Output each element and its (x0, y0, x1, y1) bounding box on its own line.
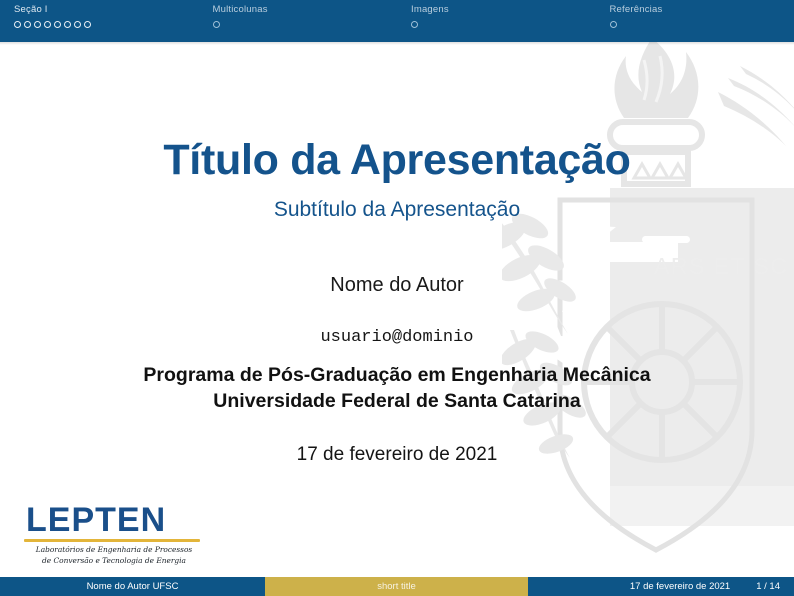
nav-dot[interactable] (213, 21, 220, 28)
nav-dot[interactable] (54, 21, 61, 28)
institute-university-line: Universidade Federal de Santa Catarina (0, 388, 794, 414)
nav-section-referencias[interactable]: Referências (596, 0, 794, 42)
footer-author-section: Nome do Autor UFSC (0, 577, 265, 596)
nav-section-label: Referências (610, 4, 794, 16)
footer-date-page-section: 17 de fevereiro de 2021 1 / 14 (528, 577, 794, 596)
nav-section-multicolunas[interactable]: Multicolunas (199, 0, 398, 42)
nav-slide-dots[interactable] (213, 21, 398, 28)
nav-section-imagens[interactable]: Imagens (397, 0, 596, 42)
presentation-title: Título da Apresentação (0, 135, 794, 185)
nav-dot[interactable] (24, 21, 31, 28)
lepten-rule (24, 539, 200, 542)
footer-page-number: 1 / 14 (756, 581, 780, 592)
nav-section-label: Imagens (411, 4, 596, 16)
nav-slide-dots[interactable] (610, 21, 794, 28)
nav-section-label: Multicolunas (213, 4, 398, 16)
nav-dot[interactable] (14, 21, 21, 28)
footer-short-title-section: short title (265, 577, 528, 596)
nav-dot[interactable] (610, 21, 617, 28)
nav-dot[interactable] (411, 21, 418, 28)
nav-section-secao-i[interactable]: Seção I (0, 0, 199, 42)
nav-section-label: Seção I (14, 4, 199, 16)
presentation-subtitle: Subtítulo da Apresentação (0, 197, 794, 223)
nav-dot[interactable] (44, 21, 51, 28)
nav-slide-dots[interactable] (411, 21, 596, 28)
institute-block: Programa de Pós-Graduação em Engenharia … (0, 362, 794, 414)
lepten-logo: LEPTEN Laboratórios de Engenharia de Pro… (24, 502, 204, 566)
author-name: Nome do Autor (0, 272, 794, 298)
author-email: usuario@dominio (0, 327, 794, 349)
footer-date-text: 17 de fevereiro de 2021 (630, 581, 730, 592)
nav-dot[interactable] (74, 21, 81, 28)
lepten-tagline-line1: Laboratórios de Engenharia de Processos (24, 545, 204, 556)
nav-dot[interactable] (64, 21, 71, 28)
navbar-shadow (0, 42, 794, 45)
presentation-date: 17 de fevereiro de 2021 (0, 442, 794, 467)
presentation-slide: ARS ET SC (0, 0, 794, 596)
lepten-tagline-line2: de Conversão e Tecnologia de Energia (24, 556, 204, 567)
footer-author-text: Nome do Autor UFSC (87, 581, 179, 592)
slide-footer: Nome do Autor UFSC short title 17 de fev… (0, 577, 794, 596)
nav-sections: Seção I Multicolunas (0, 0, 794, 42)
title-slide-content: Título da Apresentação Subtítulo da Apre… (0, 42, 794, 576)
nav-dot[interactable] (84, 21, 91, 28)
nav-slide-dots[interactable] (14, 21, 199, 28)
lepten-wordmark: LEPTEN (24, 502, 204, 538)
nav-dot[interactable] (34, 21, 41, 28)
section-navigation-bar[interactable]: Seção I Multicolunas (0, 0, 794, 42)
footer-short-title-text: short title (377, 581, 416, 592)
institute-program-line: Programa de Pós-Graduação em Engenharia … (0, 362, 794, 388)
